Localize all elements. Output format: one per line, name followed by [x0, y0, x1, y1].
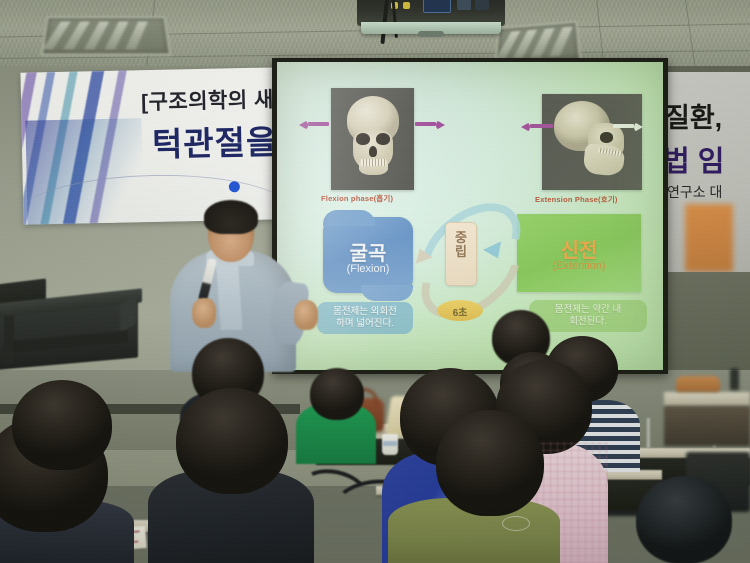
neutral-block: 중 립	[445, 222, 477, 286]
skull-side-view-icon	[554, 101, 630, 181]
flexion-block: 굴곡 (Flexion)	[323, 217, 413, 293]
extension-label-kr: 신전	[517, 234, 641, 263]
air-vent-icon	[41, 16, 171, 55]
bread-item	[676, 376, 720, 392]
desk-leg	[646, 418, 651, 448]
lectern-stem	[4, 316, 14, 364]
banner-right-line3: 연구소 대	[667, 182, 722, 202]
lecture-hall-photo: [구조의학의 새 턱관절을 질환, 법 임 연구소 대	[0, 0, 750, 563]
caption-flexion-phase: Flexion phase(흡기)	[321, 193, 393, 204]
audience-head	[636, 476, 732, 563]
extension-block: 신전 (Extention)	[517, 214, 641, 292]
banner-right-line2: 법 임	[663, 138, 724, 180]
skull-front-view-icon	[345, 96, 401, 182]
audience-head	[12, 380, 112, 470]
extension-label-en: (Extention)	[517, 260, 641, 272]
banner-right-line1: 질환,	[665, 96, 722, 135]
skull-image-extension	[542, 94, 642, 190]
audience-head	[310, 368, 364, 420]
banner-title: 턱관절을	[151, 115, 277, 166]
bottle-item	[730, 368, 739, 390]
shirt-logo-icon	[502, 516, 530, 531]
side-table	[664, 392, 750, 406]
projection-screen: Flexion phase(흡기) Extension Phase(호기) 굴곡…	[277, 62, 663, 370]
duration-label: 6초	[437, 304, 483, 319]
neutral-label: 중 립	[446, 231, 476, 259]
arrow-right-purple-icon	[415, 120, 445, 127]
arrow-left-purple-icon	[299, 120, 329, 127]
projector-lens-icon	[418, 31, 444, 37]
skull-image-flexion	[331, 88, 414, 190]
audience-head	[176, 388, 288, 494]
event-banner-right: 질환, 법 임 연구소 대	[663, 72, 750, 272]
note-flexion: 몸전제는 외회전 하며 넓어진다.	[317, 302, 413, 334]
flexion-label-en: (Flexion)	[323, 263, 413, 275]
audience-head	[436, 410, 544, 516]
side-table-front	[664, 406, 750, 446]
arrow-left-purple-icon	[521, 122, 553, 129]
presenter-hand-mic	[192, 298, 216, 328]
presenter-hand	[294, 300, 318, 330]
paper-cup	[382, 434, 398, 455]
caption-extension-phase: Extension Phase(호기)	[535, 194, 618, 205]
presenter-hair	[204, 200, 258, 234]
banner-right-graphic	[685, 204, 733, 272]
flexion-label-kr: 굴곡	[323, 237, 413, 266]
banner-subtitle: [구조의학의 새	[141, 83, 274, 116]
arrow-right-white-icon	[613, 122, 643, 129]
duration-badge: 6초	[437, 300, 483, 321]
